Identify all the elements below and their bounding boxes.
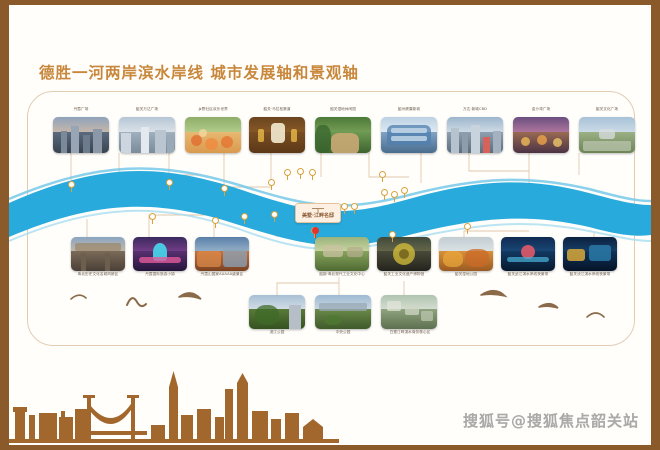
- thumbnail-caption: 丹霞广场: [43, 108, 119, 112]
- map-pin[interactable]: [284, 169, 291, 179]
- map-pin[interactable]: [149, 213, 156, 223]
- poster-canvas: 德胜一河两岸滨水岸线 城市发展轴和景观轴: [0, 0, 660, 450]
- thumbnail-image[interactable]: [185, 117, 241, 153]
- map-pin-highlight[interactable]: [312, 227, 319, 237]
- city-skyline-silhouette: [9, 353, 339, 445]
- map-pin[interactable]: [464, 223, 471, 233]
- estate-marker-label[interactable]: 美墅·江畔名邸: [295, 203, 341, 223]
- watermark-ghost-text: 搜狐号@搜狐焦点韶关站: [463, 410, 639, 431]
- thumbnail-caption: 韶关湿地休闲园: [305, 108, 381, 112]
- thumbnail-image[interactable]: [53, 117, 109, 153]
- thumbnail-image[interactable]: [133, 237, 187, 271]
- thumbnail-image[interactable]: [513, 117, 569, 153]
- map-pin[interactable]: [351, 203, 358, 213]
- sohu-watermark: 搜狐号@搜狐焦点韶关站 搜狐号@搜狐焦点韶关站: [463, 410, 639, 431]
- map-pin[interactable]: [391, 191, 398, 201]
- thumbnail-image[interactable]: [501, 237, 555, 271]
- thumbnail-image[interactable]: [119, 117, 175, 153]
- thumbnail-image[interactable]: [195, 237, 249, 271]
- map-pin[interactable]: [68, 181, 75, 191]
- estate-name: 美墅·江畔名邸: [302, 214, 334, 219]
- thumbnail-caption: 韶关万达广场: [109, 108, 185, 112]
- map-pin[interactable]: [379, 171, 386, 181]
- map-pin[interactable]: [268, 179, 275, 189]
- poster-inner: 德胜一河两岸滨水岸线 城市发展轴和景观轴: [9, 5, 651, 445]
- map-pin[interactable]: [341, 203, 348, 213]
- map-pin[interactable]: [166, 179, 173, 189]
- thumbnail-image[interactable]: [71, 237, 125, 271]
- map-pin[interactable]: [241, 213, 248, 223]
- suspension-bridge-silhouette: [77, 395, 147, 441]
- thumbnail-image[interactable]: [439, 237, 493, 271]
- map-pin[interactable]: [309, 169, 316, 179]
- thumbnail-image[interactable]: [447, 117, 503, 153]
- thumbnail-image[interactable]: [563, 237, 617, 271]
- map-pin[interactable]: [381, 189, 388, 199]
- thumbnail-caption: 金沙湾广场: [503, 108, 579, 112]
- thumbnail-image[interactable]: [377, 237, 431, 271]
- thumbnail-image[interactable]: [315, 237, 369, 271]
- flying-birds: [9, 275, 651, 345]
- thumbnail-caption: 万达·新城CBD: [437, 108, 513, 112]
- map-pin[interactable]: [221, 185, 228, 195]
- map-pin[interactable]: [297, 168, 304, 178]
- thumbnail-caption: 韶关文化广场: [569, 108, 645, 112]
- thumbnail-image[interactable]: [315, 117, 371, 153]
- thumbnail-caption: 韶关·马拉松赛道: [239, 108, 315, 112]
- map-pin[interactable]: [271, 211, 278, 221]
- thumbnail-image[interactable]: [579, 117, 635, 153]
- thumbnail-image[interactable]: [249, 117, 305, 153]
- map-pin[interactable]: [389, 231, 396, 241]
- map-pin[interactable]: [401, 187, 408, 197]
- thumbnail-image[interactable]: [381, 117, 437, 153]
- map-pin[interactable]: [212, 217, 219, 227]
- thumbnail-caption: 韶州健康新城: [371, 108, 447, 112]
